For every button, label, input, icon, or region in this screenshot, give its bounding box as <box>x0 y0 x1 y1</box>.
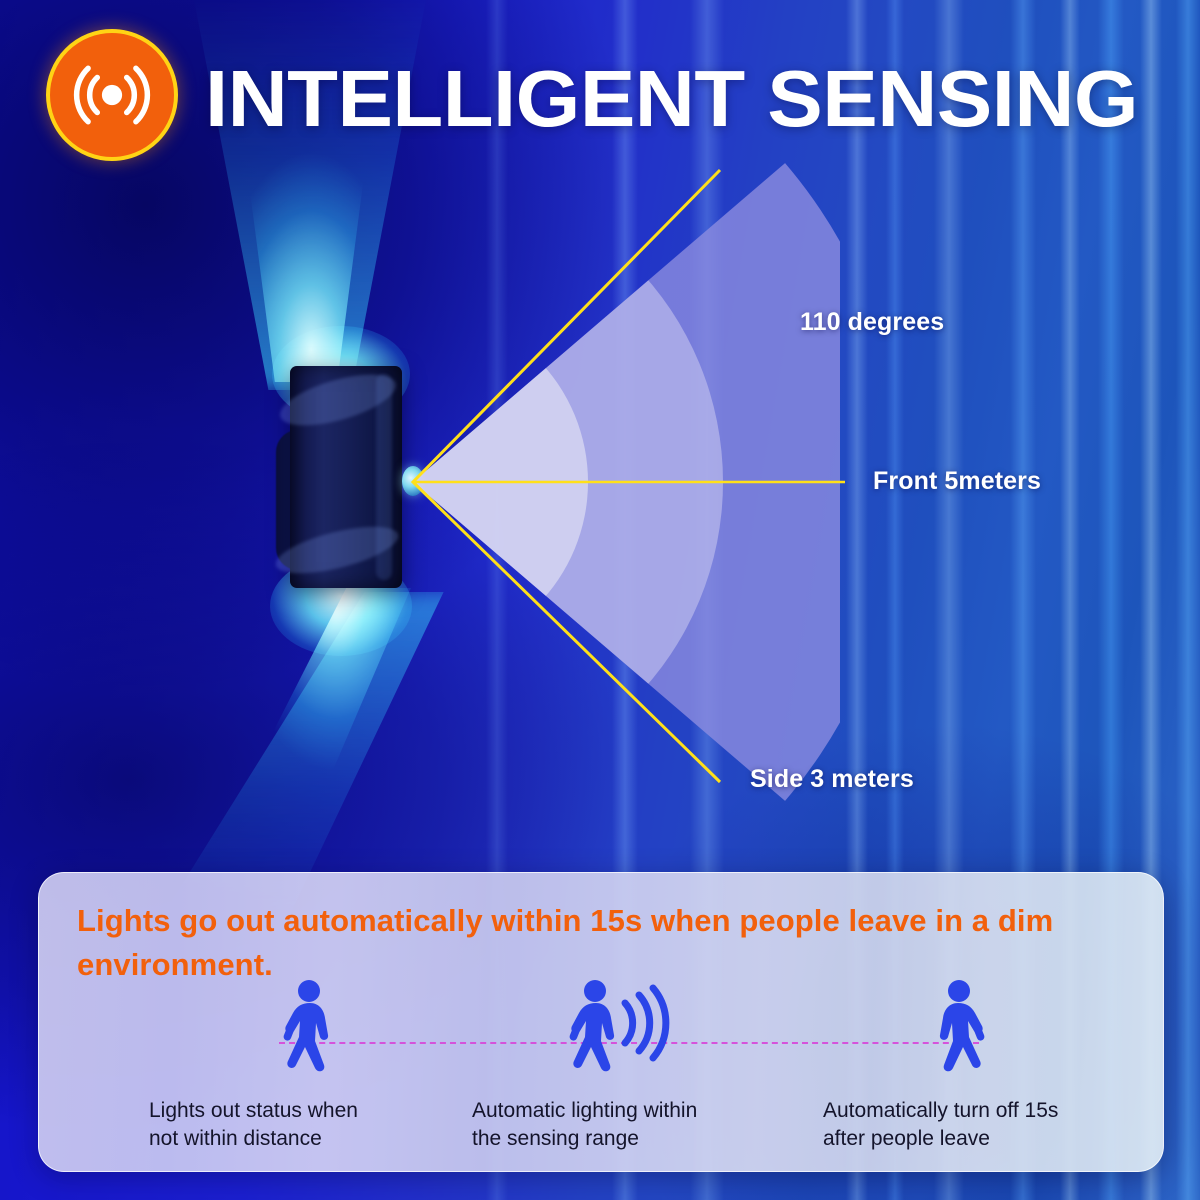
sensor-waves-icon <box>625 988 666 1058</box>
step-caption-line: Automatically turn off 15s <box>823 1097 1129 1125</box>
step-caption-line: Automatic lighting within <box>472 1097 784 1125</box>
product-feature-graphic: INTELLIGENT SENSING <box>0 0 1200 1200</box>
panel-headline: Lights go out automatically within 15s w… <box>77 899 1127 987</box>
step-caption: Lights out status when not within distan… <box>139 1097 469 1153</box>
step-item: Lights out status when not within distan… <box>139 977 469 1153</box>
step-caption-line: not within distance <box>149 1125 469 1153</box>
step-item: Automatic lighting within the sensing ra… <box>454 977 784 1153</box>
step-caption: Automatically turn off 15s after people … <box>799 1097 1129 1153</box>
signal-sensor-icon <box>66 49 158 141</box>
step-caption: Automatic lighting within the sensing ra… <box>454 1097 784 1153</box>
label-detection-angle: 110 degrees <box>800 308 944 337</box>
page-title: INTELLIGENT SENSING <box>205 46 1200 152</box>
feature-explainer-panel: Lights go out automatically within 15s w… <box>38 872 1164 1172</box>
walking-person-sensing-icon <box>563 977 675 1085</box>
step-caption-line: Lights out status when <box>149 1097 469 1125</box>
intelligent-sensing-badge <box>46 29 178 161</box>
label-side-distance: Side 3 meters <box>750 765 914 794</box>
step-item: Automatically turn off 15s after people … <box>799 977 1129 1153</box>
walking-person-icon <box>269 977 339 1085</box>
walking-person-right-icon <box>929 977 999 1085</box>
step-caption-line: the sensing range <box>472 1125 784 1153</box>
step-caption-line: after people leave <box>823 1125 1129 1153</box>
label-front-distance: Front 5meters <box>873 467 1041 496</box>
